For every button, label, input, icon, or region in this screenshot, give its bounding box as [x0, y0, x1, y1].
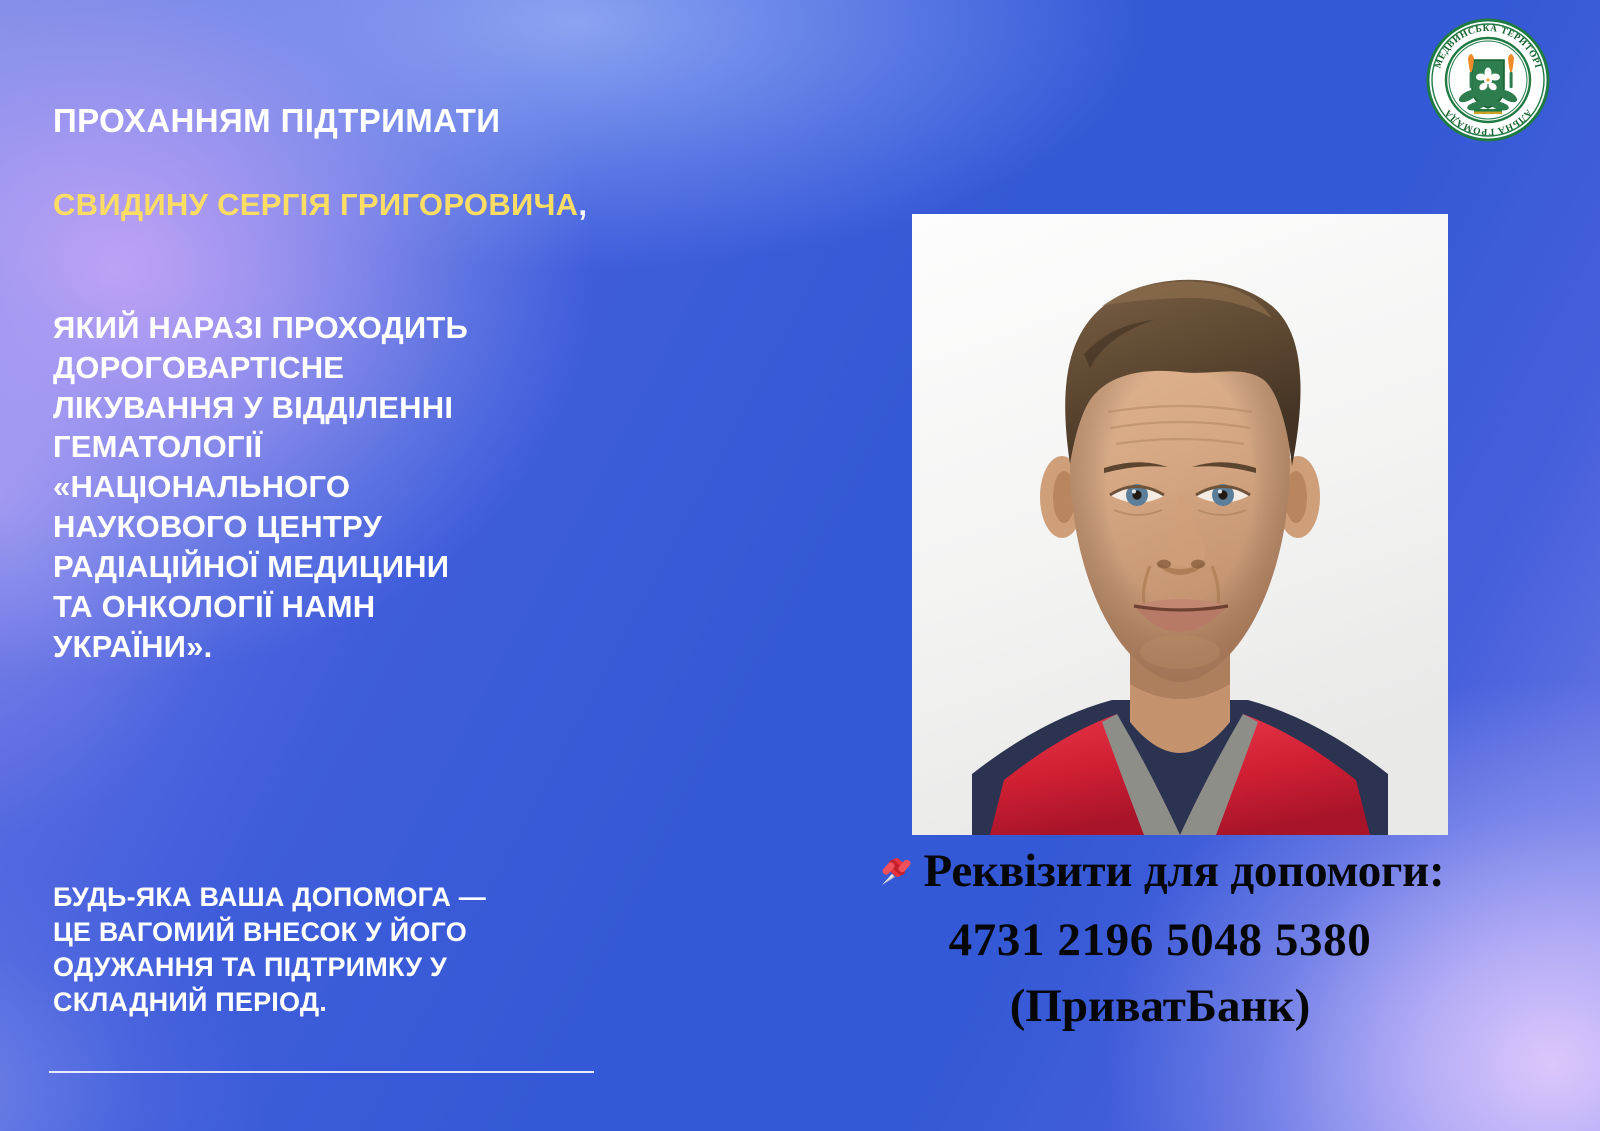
- bank-details-block: Реквізити для допомоги: 4731 2196 5048 5…: [760, 845, 1560, 1033]
- portrait-photo: [912, 214, 1448, 835]
- bank-details-title: Реквізити для допомоги:: [760, 845, 1560, 902]
- horizontal-divider: [49, 1071, 594, 1073]
- person-name-text: СВИДИНУ СЕРГІЯ ГРИГОРОВИЧА: [53, 187, 578, 222]
- bank-name: (ПриватБанк): [760, 980, 1560, 1033]
- hromada-emblem-logo: МЕДВИНСЬКА ТЕРИТОРІ АЛЬНА ГРОМАДА: [1424, 16, 1552, 144]
- pushpin-icon: [875, 849, 913, 902]
- bank-details-title-text: Реквізити для допомоги:: [923, 845, 1444, 897]
- closing-paragraph: БУДЬ-ЯКА ВАША ДОПОМОГА — ЦЕ ВАГОМИЙ ВНЕС…: [53, 880, 633, 1020]
- person-name-comma: ,: [578, 187, 587, 222]
- poster-canvas: МЕДВИНСЬКА ТЕРИТОРІ АЛЬНА ГРОМАДА: [0, 0, 1600, 1131]
- emblem-shield: [1472, 60, 1504, 108]
- bank-card-number[interactable]: 4731 2196 5048 5380: [760, 914, 1560, 967]
- body-paragraph: ЯКИЙ НАРАЗІ ПРОХОДИТЬ ДОРОГОВАРТІСНЕ ЛІК…: [53, 308, 633, 666]
- person-name: СВИДИНУ СЕРГІЯ ГРИГОРОВИЧА,: [53, 185, 633, 225]
- left-text-column: ПРОХАННЯМ ПІДТРИМАТИ СВИДИНУ СЕРГІЯ ГРИГ…: [53, 0, 653, 1131]
- page-title: ПРОХАННЯМ ПІДТРИМАТИ: [53, 102, 653, 140]
